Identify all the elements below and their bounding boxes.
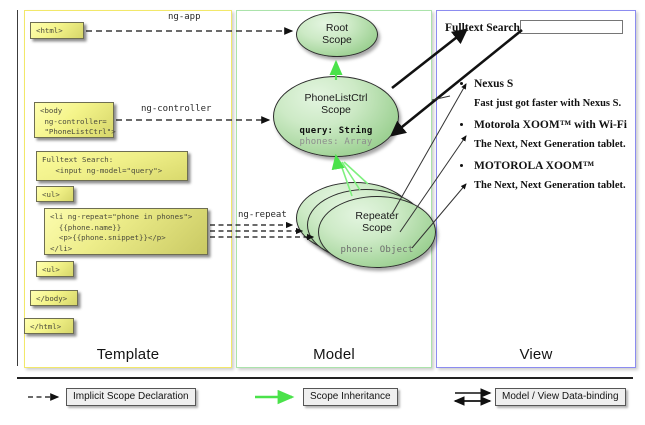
model-column-label: Model bbox=[237, 346, 431, 363]
diagram-canvas: Template Model View <html> <body ng-cont… bbox=[0, 0, 645, 425]
phone-snippet: The Next, Next Generation tablet. bbox=[474, 139, 630, 150]
fulltext-search-label: Fulltext Search: bbox=[445, 22, 524, 34]
ctrl-scope-line2: Scope bbox=[274, 104, 398, 117]
legend-divider bbox=[17, 377, 633, 379]
root-scope-node: Root Scope bbox=[296, 12, 378, 57]
phone-snippet: Fast just got faster with Nexus S. bbox=[474, 98, 630, 109]
code-box-html-close: </html> bbox=[24, 318, 74, 334]
list-item[interactable]: Nexus S Fast just got faster with Nexus … bbox=[460, 78, 630, 109]
phone-name: Nexus S bbox=[474, 78, 630, 90]
repeater-scope-prop-phone: phone: Object bbox=[319, 245, 435, 255]
edge-label-ng-app: ng-app bbox=[168, 12, 201, 22]
code-box-ul-close: <ul> bbox=[36, 261, 74, 277]
bullet-icon bbox=[460, 123, 463, 126]
code-box-body-close: </body> bbox=[30, 290, 78, 306]
repeater-scope-line2: Scope bbox=[319, 222, 435, 235]
legend-item-scope-inheritance: Scope Inheritance bbox=[303, 388, 398, 406]
repeater-scope-node: Repeater Scope phone: Object bbox=[318, 196, 436, 268]
ctrl-scope-prop-query: query: String bbox=[274, 126, 398, 136]
phone-name: Motorola XOOM™ with Wi-Fi bbox=[474, 119, 630, 131]
edge-label-ng-controller: ng-controller bbox=[141, 104, 211, 114]
list-item[interactable]: Motorola XOOM™ with Wi-Fi The Next, Next… bbox=[460, 119, 630, 150]
legend-item-model-view-data-binding: Model / View Data-binding bbox=[495, 388, 626, 406]
ctrl-scope-line1: PhoneListCtrl bbox=[274, 92, 398, 105]
code-box-body-open: <body ng-controller= "PhoneListCtrl"> bbox=[34, 102, 114, 138]
code-box-html-open: <html> bbox=[30, 22, 84, 39]
root-scope-line1: Root bbox=[297, 22, 377, 34]
phonelistctrl-scope-node: PhoneListCtrl Scope query: String phones… bbox=[273, 76, 399, 157]
repeater-scope-line1: Repeater bbox=[319, 210, 435, 223]
bullet-icon bbox=[460, 164, 463, 167]
code-box-li-ng-repeat: <li ng-repeat="phone in phones"> {{phone… bbox=[44, 208, 208, 255]
bullet-icon bbox=[460, 82, 463, 85]
ctrl-scope-prop-phones: phones: Array bbox=[274, 137, 398, 147]
template-column-label: Template bbox=[25, 346, 231, 363]
left-vertical-rule bbox=[17, 10, 18, 366]
edge-label-ng-repeat: ng-repeat bbox=[238, 210, 287, 220]
code-box-ul-open: <ul> bbox=[36, 186, 74, 202]
list-item[interactable]: MOTOROLA XOOM™ The Next, Next Generation… bbox=[460, 160, 630, 191]
code-box-search-input: Fulltext Search: <input ng-model="query"… bbox=[36, 151, 188, 181]
view-column-label: View bbox=[437, 346, 635, 363]
fulltext-search-input[interactable] bbox=[520, 20, 623, 34]
root-scope-line2: Scope bbox=[297, 34, 377, 46]
legend-item-implicit-scope-declaration: Implicit Scope Declaration bbox=[66, 388, 196, 406]
phone-snippet: The Next, Next Generation tablet. bbox=[474, 180, 630, 191]
phone-name: MOTOROLA XOOM™ bbox=[474, 160, 630, 172]
phone-list: Nexus S Fast just got faster with Nexus … bbox=[460, 78, 630, 201]
